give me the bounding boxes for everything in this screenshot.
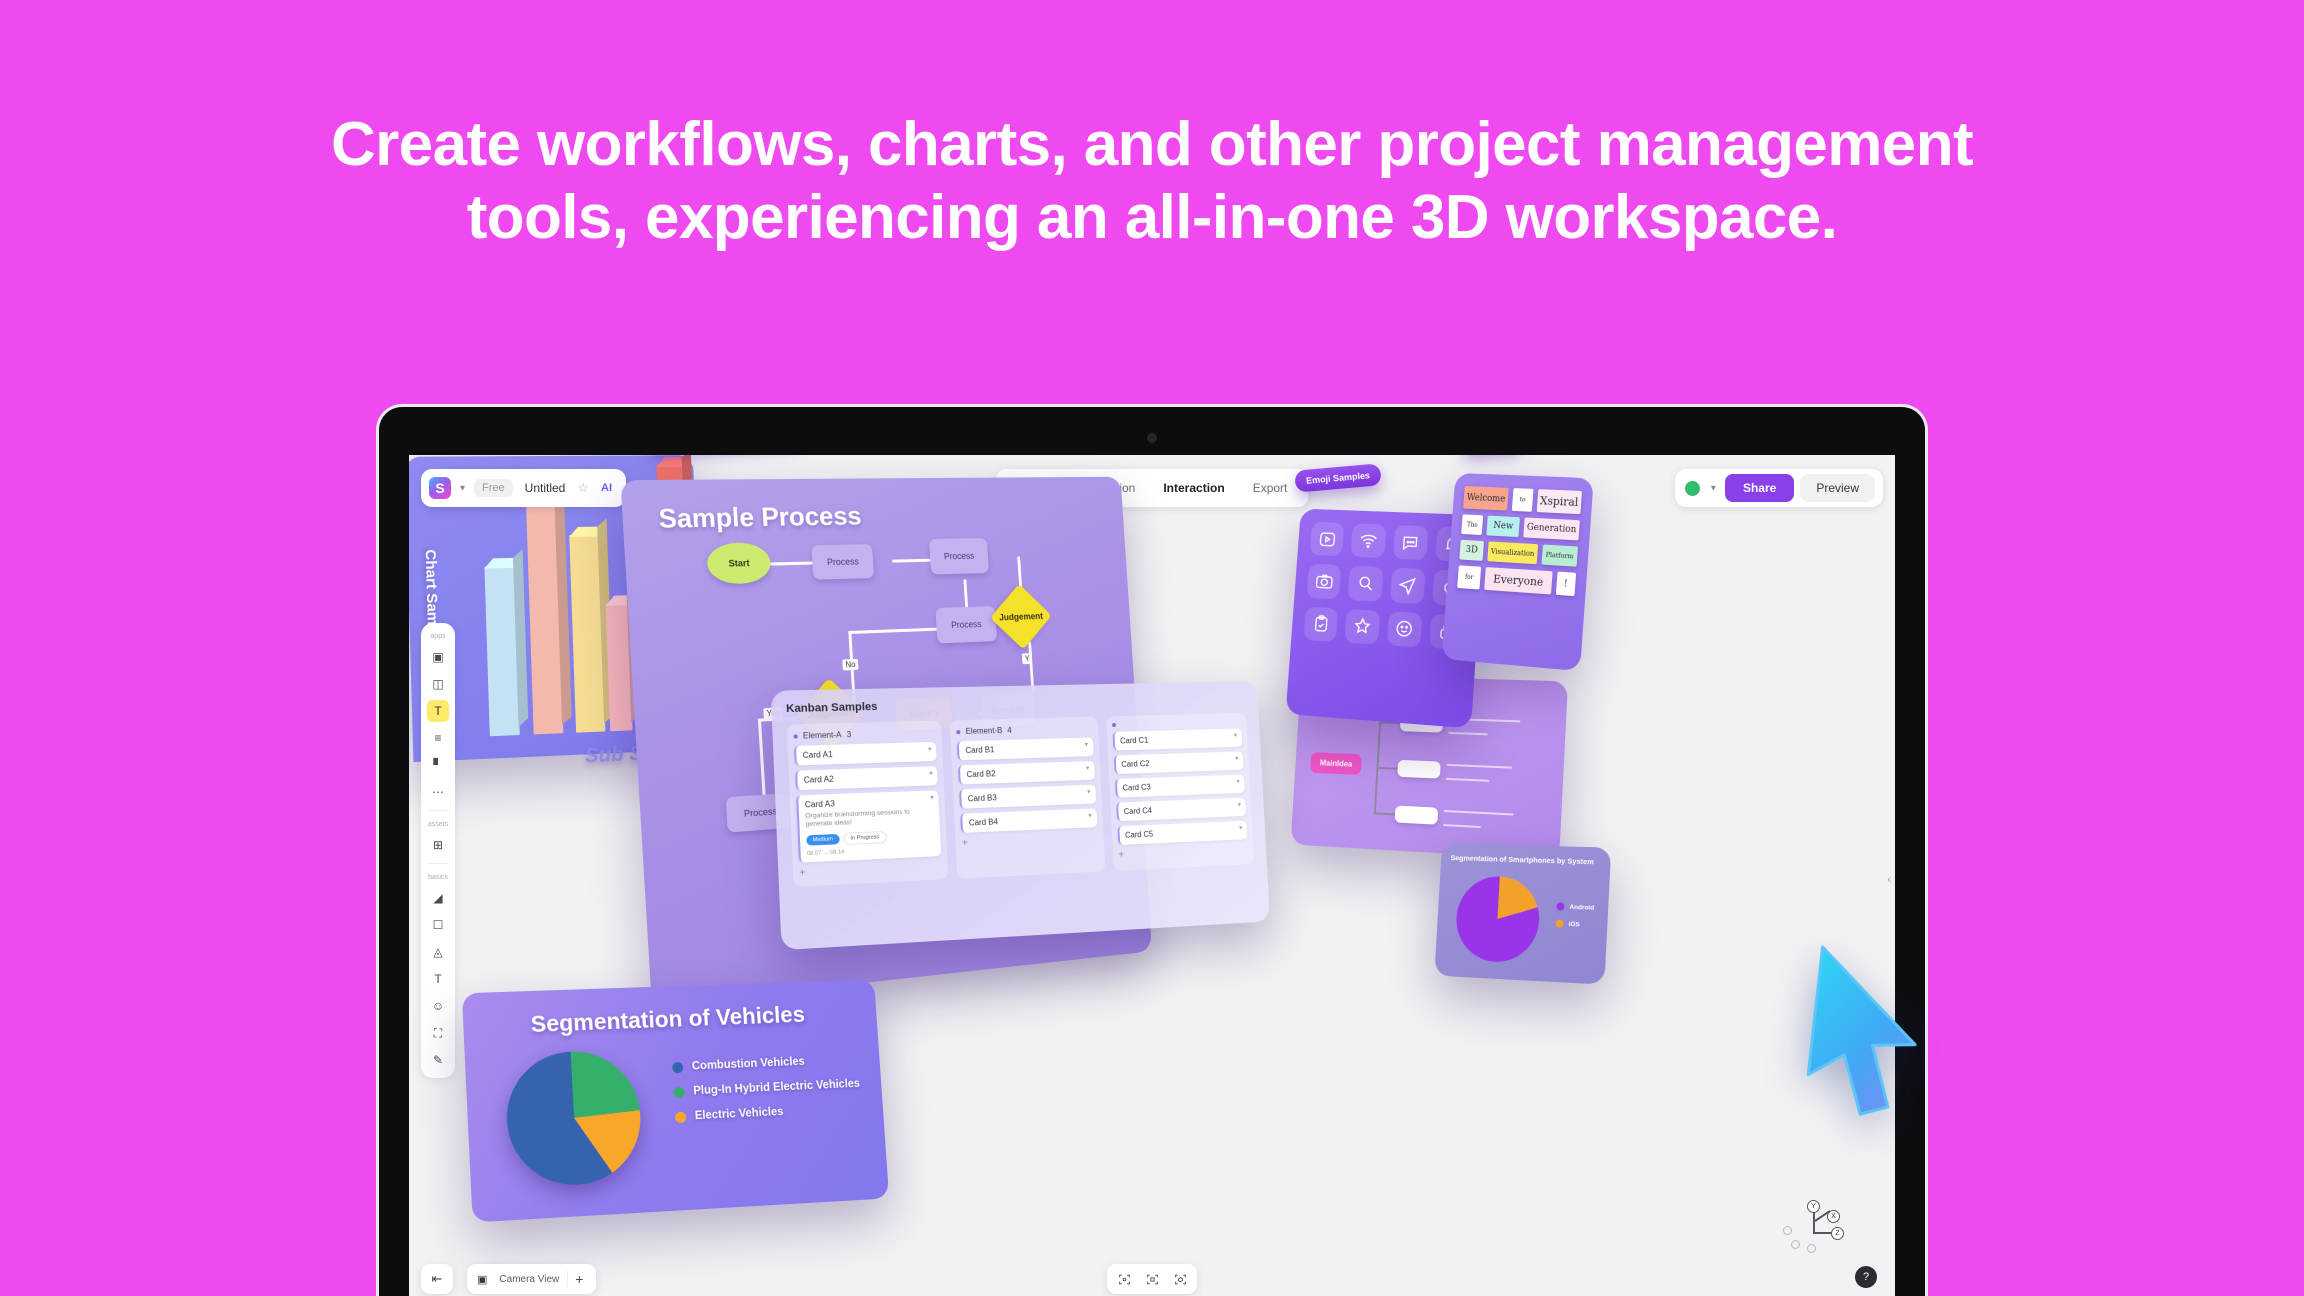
camera-icon[interactable]: ▣ [473,1273,491,1286]
chevron-down-icon[interactable]: ▾ [457,483,468,494]
kanban-card-title: Card C5 [1125,826,1242,840]
axis-ghost-handle[interactable] [1807,1244,1816,1253]
image-tool-icon[interactable]: ⛶ [427,1022,449,1044]
kanban-column-header: Element-B 4 [956,724,1092,737]
chart-app-icon[interactable]: ▘ [427,754,449,776]
kanban-card-tags: Medium In Progress [806,829,935,847]
vehicles-pie-panel[interactable]: Segmentation of Vehicles Combustion Vehi… [462,979,889,1222]
focus-view-icon[interactable] [1111,1268,1137,1290]
brainstorm-node[interactable] [1397,760,1441,779]
chevron-down-icon[interactable]: ▾ [1237,801,1241,809]
brainstorm-leaf [1446,778,1490,782]
axis-ghost-handle[interactable] [1791,1240,1800,1249]
kanban-title: Kanban Samples [786,693,1246,715]
bar [569,535,605,733]
notepaper-row: for Everyone ! [1457,565,1576,596]
headline-line-2: tools, experiencing an all-in-one 3D wor… [112,181,2192,254]
kanban-columns: Element-A 3 ▾ Card A1 ▾ Card A2 ▾ Card A… [787,713,1254,887]
kanban-card[interactable]: ▾Card B3 [959,785,1096,809]
bar [484,566,519,736]
kanban-card[interactable]: ▾ Card A3 Organize brainstorming session… [796,790,941,862]
wifi-icon[interactable] [1351,523,1386,558]
pen-tool-icon[interactable]: ✎ [427,1049,449,1071]
legend-label: Android [1569,903,1594,911]
kanban-app-icon[interactable]: ◫ [427,673,449,695]
kanban-column-name: Element-A [803,730,842,740]
fit-view-icon[interactable] [1139,1268,1165,1290]
chevron-down-icon[interactable]: ▾ [1239,824,1243,832]
status-dot [957,730,961,734]
notepaper-app-icon[interactable]: ≡ [427,727,449,749]
kanban-card[interactable]: ▾Card C3 [1115,775,1245,798]
chart-legend: Android iOS [1555,902,1594,938]
chevron-down-icon[interactable]: ▾ [929,769,933,777]
status-dot [1112,723,1116,727]
brainstorm-edge [1376,767,1397,770]
status-badge[interactable]: In Progress [843,831,887,845]
kanban-column-header: Element-A 3 [793,728,936,741]
text-app-icon[interactable]: T [427,700,449,722]
brainstorm-edge [1374,812,1395,815]
kanban-card[interactable]: ▾Card C5 [1117,821,1247,845]
kanban-column-b[interactable]: Element-B 4 ▾Card B1 ▾Card B2 ▾Card B3 ▾… [950,717,1105,879]
axis-z-handle[interactable]: Z [1831,1227,1844,1240]
help-button[interactable]: ? [1855,1266,1877,1288]
note-sticky[interactable]: New [1487,516,1520,537]
pie-chart [504,1049,644,1188]
chevron-down-icon[interactable]: ▾ [1235,754,1239,762]
note-sticky[interactable]: to [1512,488,1533,512]
toolbar-left: ▾ Free Untitled ☆ AI [421,469,626,507]
kanban-card-title: Card A2 [804,771,932,784]
camera-icon[interactable] [1307,564,1342,599]
kanban-column-a[interactable]: Element-A 3 ▾ Card A1 ▾ Card A2 ▾ Card A… [787,721,949,887]
flow-edge [892,559,930,563]
frame-tool-icon[interactable]: ☐ [427,914,449,936]
legend-swatch [673,1086,684,1097]
plan-badge[interactable]: Free [474,479,513,497]
clipboard-check-icon[interactable] [1303,606,1338,642]
chevron-down-icon[interactable]: ▾ [930,793,934,801]
brainstorm-main-node[interactable]: MainIdea [1310,752,1362,775]
flow-node-process[interactable]: Process [929,538,989,575]
legend-label: Combustion Vehicles [692,1056,806,1073]
axis-x-handle[interactable]: X [1827,1210,1840,1223]
kanban-card-date: 08.07 → 08.14 [807,845,935,857]
note-sticky[interactable]: ! [1555,572,1576,597]
document-title[interactable]: Untitled [519,481,572,495]
brainstorm-edge [1374,767,1379,815]
emoji-tool-icon[interactable]: ☺ [427,995,449,1017]
notepaper-row: The New Generation [1461,514,1580,540]
kanban-card-title: Card A1 [803,747,931,760]
kanban-column-count: 4 [1007,726,1012,735]
note-sticky[interactable]: 3D [1459,540,1484,561]
legend-item: Plug-In Hybrid Electric Vehicles [673,1078,860,1098]
kanban-card[interactable]: ▾Card B4 [961,808,1098,833]
app-logo-icon[interactable] [429,477,451,499]
rail-caption-assets: assets [428,821,448,828]
kanban-column-header [1112,720,1241,727]
chevron-down-icon[interactable]: ▾ [1708,483,1719,494]
brainstorm-node[interactable] [1395,805,1439,824]
legend-swatch [1556,902,1564,910]
camera-view-label[interactable]: Camera View [494,1274,564,1285]
3d-pointer-cursor [1782,939,1949,1131]
axis-gizmo[interactable]: Y X Z [1791,1200,1849,1252]
flow-label-no: No [842,659,859,671]
tab-export[interactable]: Export [1240,475,1301,501]
note-sticky[interactable]: Platform [1541,544,1578,566]
flowchart-title: Sample Process [658,500,863,534]
axis-line-y [1813,1212,1815,1234]
chart-title: Segmentation of Vehicles [530,1001,806,1038]
note-sticky[interactable]: for [1457,565,1481,589]
kanban-card-title: Card B1 [965,742,1087,755]
cursor-tool-icon[interactable]: ◢ [427,887,449,909]
chevron-down-icon[interactable]: ▾ [1236,778,1240,786]
kanban-card-title: Card C2 [1121,756,1238,769]
camera-view-bar: ▣ Camera View + [467,1264,596,1294]
flow-edge [770,562,812,566]
headline-line-1: Create workflows, charts, and other proj… [112,108,2192,181]
kanban-panel[interactable]: Kanban Samples Element-A 3 ▾ Card A1 ▾ C… [771,681,1270,950]
smiley-icon[interactable] [1386,611,1422,647]
pie-chart [1454,875,1541,964]
note-sticky[interactable]: Welcome [1463,486,1509,511]
tab-interaction[interactable]: Interaction [1150,475,1237,501]
kanban-column-count: 3 [846,730,851,739]
chart-legend: Combustion Vehicles Plug-In Hybrid Elect… [672,1054,863,1136]
kanban-card-title: Card C3 [1122,780,1239,793]
star-icon[interactable]: ☆ [577,480,589,496]
legend-item: Electric Vehicles [675,1102,862,1123]
kanban-card-title: Card B3 [968,790,1090,804]
brainstorm-leaf [1446,764,1512,769]
kanban-card[interactable]: ▾Card C1 [1112,728,1242,750]
kanban-card-title: Card B4 [969,814,1091,828]
legend-swatch [672,1061,683,1072]
legend-label: Electric Vehicles [695,1106,784,1122]
note-sticky[interactable]: Everyone [1484,567,1552,594]
page-headline: Create workflows, charts, and other proj… [112,108,2192,254]
brainstorm-leaf [1448,732,1488,735]
legend-label: Plug-In Hybrid Electric Vehicles [693,1078,860,1097]
tool-rail: apps ▣ ◫ T ≡ ▘ ⋯ assets ⊞ basics ◢ ☐ ◬ T… [421,623,455,1078]
text-tool-icon[interactable]: T [427,968,449,990]
legend-item: iOS [1556,919,1594,929]
rail-divider [428,810,448,811]
kanban-add-card-button[interactable]: + [1118,844,1248,861]
priority-badge[interactable]: Medium [806,834,839,846]
kanban-add-card-button[interactable]: + [799,861,942,879]
rail-caption-basics: basics [428,874,448,881]
notepaper-panel[interactable]: Welcome to Xspiral The New Generation 3D… [1442,473,1594,671]
share-button[interactable]: Share [1725,474,1794,502]
flowchart-app-icon[interactable]: ▣ [427,646,449,668]
smartphones-pie-panel[interactable]: Segmentation of Smartphones by System An… [1434,843,1611,984]
axis-ghost-handle[interactable] [1783,1226,1792,1235]
kanban-card[interactable]: ▾ Card A1 [794,742,937,766]
legend-swatch [675,1111,686,1122]
kanban-add-card-button[interactable]: + [962,832,1098,849]
cube-tool-icon[interactable]: ◬ [427,941,449,963]
flow-node-decision[interactable]: Judgement [990,584,1052,650]
add-asset-icon[interactable]: ⊞ [427,834,449,856]
chevron-down-icon[interactable]: ▾ [1086,764,1090,772]
note-sticky[interactable]: Generation [1523,517,1580,540]
flow-node-process[interactable]: Process [935,606,997,644]
axis-y-handle[interactable]: Y [1807,1200,1820,1213]
kanban-card-title: Card B2 [966,766,1088,779]
chevron-down-icon[interactable]: ▾ [1087,788,1091,796]
star-icon[interactable] [1345,608,1380,644]
ai-button[interactable]: AI [595,482,618,494]
brainstorm-leaf [1443,824,1481,828]
send-icon[interactable] [1389,568,1425,604]
chevron-down-icon[interactable]: ▾ [1234,731,1238,739]
panel-collapse-icon[interactable]: ⇤ [421,1264,453,1294]
webcam-dot [1147,433,1157,443]
search-icon[interactable] [1348,566,1383,602]
flow-edge [1028,642,1034,692]
cube-view-icon[interactable] [1167,1268,1193,1290]
preview-button[interactable]: Preview [1800,474,1875,502]
kanban-card[interactable]: ▾Card C2 [1113,751,1243,774]
kanban-column-name: Element-B [965,726,1002,736]
legend-label: iOS [1568,920,1579,928]
view-mode-bar [1107,1264,1197,1294]
laptop-device: ▾ Free Untitled ☆ AI Design Animation In… [376,404,1928,1296]
kanban-column-c[interactable]: ▾Card C1 ▾Card C2 ▾Card C3 ▾Card C4 ▾Car… [1106,713,1255,871]
play-icon[interactable] [1310,522,1345,557]
kanban-card[interactable]: ▾Card B2 [958,761,1094,784]
rail-caption-apps: apps [430,633,445,640]
badge-emoji[interactable]: Emoji Samples [1294,463,1382,492]
status-dot [793,734,797,738]
flow-label-y: Y [1022,653,1033,664]
add-camera-button[interactable]: + [567,1271,590,1287]
chat-icon[interactable] [1392,525,1428,560]
kanban-card[interactable]: ▾Card B1 [957,737,1093,760]
chevron-down-icon[interactable]: ▾ [1088,811,1092,819]
rail-divider [428,863,448,864]
kanban-card-title: Card C4 [1124,803,1241,816]
kanban-card-title: Card C1 [1120,733,1237,745]
flow-edge [758,719,766,803]
note-sticky[interactable]: The [1461,514,1483,535]
chevron-down-icon[interactable]: ▾ [928,745,932,753]
note-sticky[interactable]: Xspiral [1536,489,1582,514]
toolbar-right: ▾ Share Preview [1675,469,1883,507]
kanban-card[interactable]: ▾ Card A2 [795,766,938,790]
flow-node-start[interactable]: Start [706,542,772,584]
brainstorm-leaf [1444,810,1514,816]
legend-item: Combustion Vehicles [672,1054,859,1074]
right-panel-handle[interactable]: ‹ [1887,874,1891,886]
bar [526,503,563,734]
chevron-down-icon[interactable]: ▾ [1085,740,1089,748]
more-apps-icon[interactable]: ⋯ [427,781,449,803]
note-sticky[interactable]: Visualization [1487,541,1538,564]
kanban-card[interactable]: ▾Card C4 [1116,798,1246,822]
legend-swatch [1556,919,1564,927]
notepaper-row: 3D Visualization Platform [1459,540,1578,567]
brainstorm-edge [1376,721,1381,768]
app-screen: ▾ Free Untitled ☆ AI Design Animation In… [409,455,1895,1296]
notepaper-row: Welcome to Xspiral [1463,486,1582,514]
flow-node-process[interactable]: Process [811,544,874,580]
avatar[interactable] [1683,479,1702,498]
legend-item: Android [1556,902,1594,911]
kanban-card-description: Organize brainstorming sessions to gener… [805,808,934,830]
chart-title: Segmentation of Smartphones by System [1450,853,1600,866]
